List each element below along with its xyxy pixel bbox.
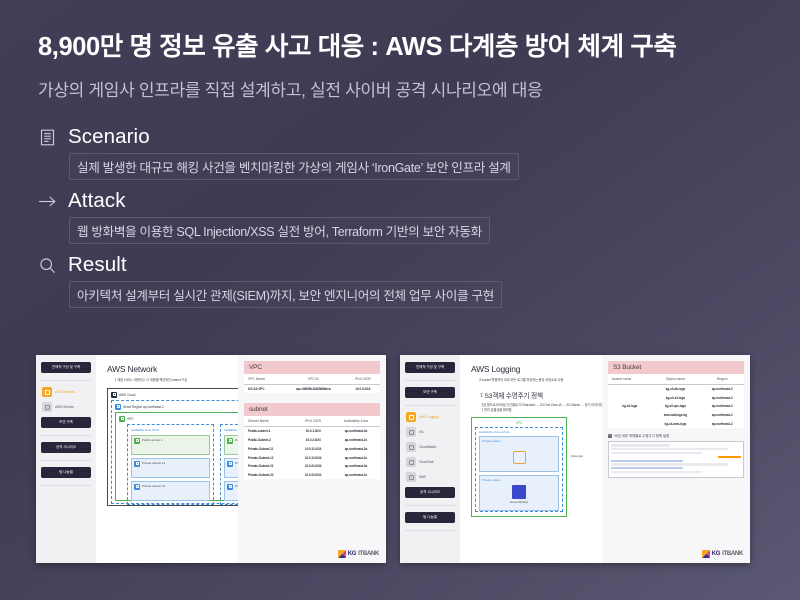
cell-subnet-az: ap-northeast-2a bbox=[331, 426, 380, 435]
section-scenario-label: Scenario bbox=[68, 125, 150, 149]
cell-region: ap-northeast-2 bbox=[699, 402, 744, 411]
cell-subnet-cidr: 10.0.1.0/24 bbox=[294, 426, 331, 435]
subnet-private-21: Private subnet 21 bbox=[131, 481, 210, 501]
rail-divider bbox=[405, 530, 455, 531]
rail-item-label: AWS Service bbox=[55, 405, 74, 409]
cell-ipv4-cidr: 10.0.0.0/16 bbox=[345, 384, 380, 393]
s3-tables-panel: S3 Bucket bucket name Object name Region… bbox=[602, 355, 750, 563]
cell-subnet-name: Private-Subnet-12 bbox=[244, 453, 294, 462]
subnet-icon bbox=[134, 461, 140, 467]
lifecycle-policy-note: ▣ 버킷 내부 객체별로 수명주기 정책 설정 bbox=[608, 433, 744, 438]
region-icon bbox=[115, 404, 121, 410]
cell-subnet-cidr: 10.0.21.0/24 bbox=[294, 462, 331, 471]
sections-list: Scenario 실제 발생한 대규모 해킹 사건을 벤치마킹한 가상의 게임사… bbox=[0, 125, 800, 308]
column-subnet-name: Subnet Name bbox=[244, 416, 294, 426]
subnet-label: Private subnet bbox=[482, 478, 500, 482]
flow-logs-node: Flow logs bbox=[571, 453, 583, 458]
subnet-icon bbox=[227, 438, 233, 444]
rail-item-cloudtrail[interactable]: CloudTrail bbox=[405, 457, 455, 467]
section-result: Result 아키텍처 설계부터 실시간 관제(SIEM)까지, 보안 엔지니어… bbox=[38, 253, 800, 308]
rail-item-aws-service[interactable]: AWS Service bbox=[41, 402, 91, 412]
cell-subnet-cidr: 10.0.22.0/24 bbox=[294, 471, 331, 480]
table-row: KG-S3-VPC vpc-09809b11883686dca 10.0.0.0… bbox=[244, 384, 380, 393]
table-row: Public-subnet-1 10.0.1.0/24 ap-northeast… bbox=[244, 426, 380, 435]
slide-network-body: AWS Network ▣ 각 계정 서비스 사용하고, 각 계층별 책임적인 … bbox=[96, 355, 386, 563]
console-line bbox=[611, 452, 702, 454]
cell-vpc-id: vpc-09809b11883686dca bbox=[281, 384, 345, 393]
service-chip-icon bbox=[42, 402, 52, 412]
logo-itbank-text: ITBANK bbox=[722, 551, 743, 557]
section-attack-label: Attack bbox=[68, 189, 126, 213]
table-row: Private-Subnet-22 10.0.22.0/24 ap-northe… bbox=[244, 471, 380, 480]
logging-vpc-label: VPC bbox=[475, 421, 563, 425]
slide-thumbnail-logging[interactable]: 전체적 구성 및 구축 보안 구축 AWS Logging HA CloudWa… bbox=[400, 355, 750, 563]
section-scenario-header: Scenario bbox=[38, 125, 800, 149]
cell-region: ap-northeast-2 bbox=[699, 393, 744, 402]
cell-bucket-name: kg-s3-logs bbox=[608, 384, 651, 428]
slide-logging-body: AWS Logging ▣ S3 bucket 활용하여 내부 모든 로그를 저… bbox=[460, 355, 750, 563]
rail-divider bbox=[41, 485, 91, 486]
rail-item-label: AWS Logging bbox=[419, 415, 439, 419]
cell-object-name: kg-s3-db-logs bbox=[651, 384, 700, 393]
bullet-icon: ▣ bbox=[471, 403, 475, 407]
cell-subnet-name: Private-Subnet-11 bbox=[244, 444, 294, 453]
rail-divider bbox=[405, 380, 455, 381]
slide-thumbnails: 전체적 구성 및 구축 AWS Network AWS Service 보안 구… bbox=[36, 355, 750, 563]
cell-subnet-cidr: 10.0.2.0/24 bbox=[294, 436, 331, 445]
flow-logs-label: Flow logs bbox=[571, 454, 583, 458]
section-result-label: Result bbox=[68, 253, 127, 277]
column-object-name: Object name bbox=[651, 374, 700, 384]
rail-item-label: CloudTrail bbox=[419, 460, 433, 464]
database-icon bbox=[512, 485, 526, 499]
cloudtrail-chip-icon bbox=[406, 457, 416, 467]
cell-object-name: kg-s3-s3-logs bbox=[651, 393, 700, 402]
magnifier-icon bbox=[38, 256, 57, 275]
rail-item-waf[interactable]: WAF bbox=[405, 472, 455, 482]
section-attack-header: Attack bbox=[38, 189, 800, 213]
cell-vpc-name: KG-S3-VPC bbox=[244, 384, 281, 393]
rail-button-security[interactable]: 보안 구축 bbox=[405, 387, 455, 398]
column-vpc-name: VPC Name bbox=[244, 374, 281, 384]
availability-zone-2a: Availability Zone AZ 2a Public subnet 1 … bbox=[127, 424, 214, 505]
rail-button-team[interactable]: 팀 나눔별 bbox=[41, 467, 91, 478]
rail-item-label: HA bbox=[419, 430, 424, 434]
rail-button-attack-scenario[interactable]: 공격 시나리오 bbox=[41, 442, 91, 453]
subnet-icon bbox=[134, 438, 140, 444]
table-row: Private-Subnet-11 10.0.11.0/24 ap-northe… bbox=[244, 444, 380, 453]
slide-network-rail: 전체적 구성 및 구축 AWS Network AWS Service 보안 구… bbox=[36, 355, 96, 563]
subnet-icon bbox=[227, 461, 233, 467]
logging-chip-icon bbox=[406, 412, 416, 422]
rail-button-team[interactable]: 팀 나눔별 bbox=[405, 512, 455, 523]
console-line bbox=[611, 448, 728, 450]
subnet-icon bbox=[134, 484, 140, 490]
logo-kg-text: KG bbox=[712, 551, 720, 557]
table-header-row: bucket name Object name Region bbox=[608, 374, 744, 384]
column-vpc-id: VPC ID bbox=[281, 374, 345, 384]
console-line bbox=[611, 444, 670, 446]
rail-button-attack-scenario[interactable]: 공격 시나리오 bbox=[405, 487, 455, 498]
table-header-row: VPC Name VPC ID IPv4 CIDR bbox=[244, 374, 380, 384]
s3-table-heading: S3 Bucket bbox=[608, 361, 744, 374]
network-tables-panel: VPC VPC Name VPC ID IPv4 CIDR KG-S3-VPC … bbox=[238, 355, 386, 563]
region-text: Seoul Region ap-northeast-2 bbox=[123, 405, 164, 409]
page-title: 8,900만 명 정보 유출 사고 대응 : AWS 다계층 방어 체계 구축 bbox=[38, 26, 800, 63]
cell-subnet-az: ap-northeast-2a bbox=[331, 462, 380, 471]
aws-cloud-icon bbox=[111, 392, 117, 398]
section-attack: Attack 웹 방화벽을 이용한 SQL Injection/XSS 실전 방… bbox=[38, 189, 800, 244]
ha-chip-icon bbox=[406, 427, 416, 437]
logging-az-box: Availability Zone AZ 2a Private subnet P… bbox=[475, 427, 563, 512]
cell-subnet-name: Public-subnet-1 bbox=[244, 426, 294, 435]
arrow-right-icon bbox=[38, 192, 57, 211]
lifecycle-policy-text: 버킷 내부 객체별로 수명주기 정책 설정 bbox=[615, 433, 670, 438]
cell-region: ap-northeast-2 bbox=[699, 411, 744, 420]
cell-subnet-name: Private-Subnet-22 bbox=[244, 471, 294, 480]
kg-itbank-logo: KG ITBANK bbox=[338, 550, 379, 558]
rail-button-overview[interactable]: 전체적 구성 및 구축 bbox=[405, 362, 455, 373]
logging-private-subnet-2: Private subnet Aurora MySQL bbox=[479, 475, 559, 511]
kg-logo-mark-icon bbox=[702, 550, 710, 558]
slide-thumbnail-network[interactable]: 전체적 구성 및 구축 AWS Network AWS Service 보안 구… bbox=[36, 355, 386, 563]
kg-logo-mark-icon bbox=[338, 550, 346, 558]
logging-private-subnet-1: Private subnet bbox=[479, 436, 559, 472]
cell-region: ap-northeast-2 bbox=[699, 420, 744, 429]
vpc-text: VPC bbox=[127, 417, 134, 421]
cell-subnet-az: ap-northeast-2c bbox=[331, 471, 380, 480]
cell-subnet-name: Private-Subnet-21 bbox=[244, 462, 294, 471]
rail-button-overview[interactable]: 전체적 구성 및 구축 bbox=[41, 362, 91, 373]
vpc-table: VPC Name VPC ID IPv4 CIDR KG-S3-VPC vpc-… bbox=[244, 374, 380, 393]
rail-divider bbox=[41, 460, 91, 461]
subnet-label: Private subnet 21 bbox=[142, 484, 165, 488]
rail-divider bbox=[41, 380, 91, 381]
subnet-private-11: Private subnet 11 bbox=[131, 458, 210, 478]
cell-subnet-cidr: 10.0.12.0/24 bbox=[294, 453, 331, 462]
rail-item-aws-network[interactable]: AWS Network bbox=[41, 387, 91, 397]
cell-subnet-cidr: 10.0.11.0/24 bbox=[294, 444, 331, 453]
rail-item-label: WAF bbox=[419, 475, 426, 479]
cell-subnet-name: Public-Subnet-2 bbox=[244, 436, 294, 445]
logging-az-label: Availability Zone AZ 2a bbox=[479, 430, 559, 434]
ec2-instance-icon bbox=[513, 451, 526, 464]
subnet-public-1: Public subnet 1 bbox=[131, 435, 210, 455]
database-caption: Aurora MySQL bbox=[510, 500, 529, 504]
column-region: Region bbox=[699, 374, 744, 384]
page-header: 8,900만 명 정보 유출 사고 대응 : AWS 다계층 방어 체계 구축 … bbox=[0, 0, 800, 101]
document-icon bbox=[38, 128, 57, 147]
network-chip-icon bbox=[42, 387, 52, 397]
rail-item-label: AWS Network bbox=[55, 390, 75, 394]
table-row: Private-Subnet-21 10.0.21.0/24 ap-northe… bbox=[244, 462, 380, 471]
rail-item-ha[interactable]: HA bbox=[405, 427, 455, 437]
cell-object-name: kg-s3-web-logs bbox=[651, 420, 700, 429]
column-ipv4-cidr: IPv4 CIDR bbox=[345, 374, 380, 384]
subnet-label: Private subnet bbox=[482, 439, 500, 443]
s3-bucket-table: bucket name Object name Region kg-s3-log… bbox=[608, 374, 744, 428]
cloudwatch-chip-icon bbox=[406, 442, 416, 452]
section-scenario-description: 실제 발생한 대규모 해킹 사건을 벤치마킹한 가상의 게임사 ‘IronGat… bbox=[69, 153, 519, 180]
table-row: Private-Subnet-12 10.0.12.0/24 ap-northe… bbox=[244, 453, 380, 462]
table-row: Public-Subnet-2 10.0.2.0/24 ap-northeast… bbox=[244, 436, 380, 445]
section-result-header: Result bbox=[38, 253, 800, 277]
bullet-icon: ▣ bbox=[471, 378, 475, 382]
bullet-icon: ▣ bbox=[608, 434, 612, 438]
subnet-table-heading: subnet bbox=[244, 403, 380, 416]
console-action-button bbox=[718, 456, 741, 458]
table-row: kg-s3-logs kg-s3-db-logs ap-northeast-2 bbox=[608, 384, 744, 393]
subnet-table: Subnet Name IPv4 CIDR Availability Zone … bbox=[244, 416, 380, 479]
kg-itbank-logo: KG ITBANK bbox=[702, 550, 743, 558]
logging-vpc-box: VPC Availability Zone AZ 2a Private subn… bbox=[471, 417, 567, 517]
console-line bbox=[611, 463, 728, 465]
section-scenario: Scenario 실제 발생한 대규모 해킹 사건을 벤치마킹한 가상의 게임사… bbox=[38, 125, 800, 180]
rail-item-label: CloudWatch bbox=[419, 445, 436, 449]
section-result-description: 아키텍처 설계부터 실시간 관제(SIEM)까지, 보안 엔지니어의 전체 업무… bbox=[69, 281, 502, 308]
rail-item-aws-logging[interactable]: AWS Logging bbox=[405, 412, 455, 422]
vpc-icon bbox=[119, 416, 125, 422]
table-header-row: Subnet Name IPv4 CIDR Availability Zone bbox=[244, 416, 380, 426]
section-attack-description: 웹 방화벽을 이용한 SQL Injection/XSS 실전 방어, Terr… bbox=[69, 217, 490, 244]
cell-subnet-az: ap-northeast-2a bbox=[331, 444, 380, 453]
cell-object-name: kg-s3-vpc-logs bbox=[651, 402, 700, 411]
vpc-table-heading: VPC bbox=[244, 361, 380, 374]
console-line bbox=[611, 460, 683, 462]
rail-divider bbox=[405, 505, 455, 506]
rail-divider bbox=[41, 435, 91, 436]
page-subtitle: 가상의 게임사 인프라를 직접 설계하고, 실전 사이버 공격 시나리오에 대응 bbox=[38, 76, 800, 101]
logo-kg-text: KG bbox=[348, 551, 356, 557]
subnet-label: Private subnet 11 bbox=[142, 461, 165, 465]
cell-subnet-az: ap-northeast-2c bbox=[331, 436, 380, 445]
logo-itbank-text: ITBANK bbox=[358, 551, 379, 557]
aws-cloud-text: AWS Cloud bbox=[119, 393, 135, 397]
rail-divider bbox=[405, 405, 455, 406]
slide-logging-note-text: S3 bucket 활용하여 내부 모든 로그를 저장하는 중앙 저장소로 사용 bbox=[478, 378, 564, 383]
rail-item-cloudwatch[interactable]: CloudWatch bbox=[405, 442, 455, 452]
column-subnet-az: Availability Zone bbox=[331, 416, 380, 426]
slide-logging-rail: 전체적 구성 및 구축 보안 구축 AWS Logging HA CloudWa… bbox=[400, 355, 460, 563]
console-line bbox=[611, 467, 683, 469]
slide-network-note-text: 각 계정 서비스 사용하고, 각 계층별 책임적인 subnet 구성 bbox=[114, 378, 188, 383]
cell-region: ap-northeast-2 bbox=[699, 384, 744, 393]
column-subnet-cidr: IPv4 CIDR bbox=[294, 416, 331, 426]
az-title: Availability Zone AZ 2a bbox=[131, 428, 210, 432]
rail-button-security[interactable]: 보안 구축 bbox=[41, 417, 91, 428]
cell-object-name: aws-waf-logs-kg bbox=[651, 411, 700, 420]
cell-subnet-az: ap-northeast-2c bbox=[331, 453, 380, 462]
column-bucket-name: bucket name bbox=[608, 374, 651, 384]
aws-console-screenshot bbox=[608, 441, 744, 478]
bullet-icon: ▣ bbox=[107, 378, 111, 382]
subnet-label: Public subnet 1 bbox=[142, 438, 163, 442]
waf-chip-icon bbox=[406, 472, 416, 482]
subnet-icon bbox=[227, 484, 233, 490]
console-line bbox=[611, 471, 702, 473]
